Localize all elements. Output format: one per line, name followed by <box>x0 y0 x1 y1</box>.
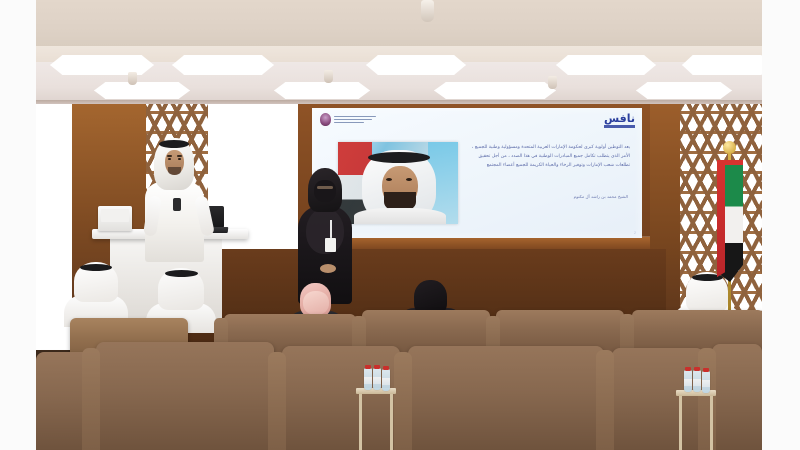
conference-photograph: نافس يعد التوطين أولوية كبرى لحكومة الإم… <box>36 0 762 450</box>
foreground-chair <box>712 344 762 450</box>
bottle-label <box>373 377 381 384</box>
ceiling-light-panel <box>50 55 154 75</box>
slide-attribution: الشيخ محمد بن راشد آل مكتوم <box>498 194 628 199</box>
side-table <box>356 388 396 450</box>
ceiling-light-panel <box>682 55 762 75</box>
ceiling-light-panel <box>94 82 190 99</box>
presenter-eyebrow <box>167 155 172 157</box>
chair-armrest <box>82 348 100 450</box>
ceiling-upper-surface <box>36 0 762 50</box>
uae-government-emblem-icon <box>320 113 376 126</box>
portrait-of-sheikh <box>338 142 458 224</box>
attendee-agal <box>165 270 198 277</box>
ceiling-downlight <box>324 70 333 83</box>
ceiling-light-panel <box>274 82 370 99</box>
chair-armrest <box>596 350 614 450</box>
portrait-agal <box>368 152 430 163</box>
monitor-screen <box>101 209 129 222</box>
smoke-detector-icon <box>421 0 434 22</box>
ceiling-light-panel <box>366 55 466 75</box>
ceiling-light-panel <box>556 55 656 75</box>
bottle-label <box>693 379 701 386</box>
attendee-agal <box>80 264 112 271</box>
portrait-eye <box>386 178 392 181</box>
water-bottle <box>702 371 710 393</box>
presenter-eyebrow <box>177 155 182 157</box>
bottle-label <box>702 380 710 387</box>
bottle-label <box>364 377 372 384</box>
screenshot-canvas: نافس يعد التوطين أولوية كبرى لحكومة الإم… <box>0 0 800 450</box>
bottle-label <box>684 379 692 386</box>
water-bottle <box>373 368 381 390</box>
presenter-handheld-device <box>173 198 181 211</box>
bottle-cap <box>383 366 389 370</box>
projection-screen[interactable]: نافس يعد التوطين أولوية كبرى لحكومة الإم… <box>312 108 642 238</box>
bottle-cap <box>374 365 380 369</box>
water-bottle <box>684 370 692 392</box>
chair-armrest <box>268 352 286 450</box>
table-leg <box>359 394 362 450</box>
emblem-crest <box>320 113 331 126</box>
portrait-eye <box>406 178 412 181</box>
side-table <box>676 390 716 450</box>
table-leg <box>679 396 682 450</box>
bottle-label <box>382 378 390 385</box>
foreground-chair <box>96 342 274 450</box>
ceiling-light-panel <box>460 82 556 99</box>
chair-armrest <box>394 352 412 450</box>
bottle-cap <box>703 368 709 372</box>
foreground-chair <box>408 346 604 450</box>
nafis-wordmark: نافس <box>604 113 635 124</box>
flag-red-band <box>717 160 725 282</box>
nafis-underline <box>604 125 635 128</box>
attendee-eyes <box>317 186 333 189</box>
table-leg <box>390 394 393 450</box>
portrait-robe <box>354 208 446 224</box>
bottle-cap <box>365 365 371 369</box>
bottle-cap <box>685 367 691 371</box>
emblem-text-lines <box>334 116 376 123</box>
ceiling-light-panel <box>636 82 732 99</box>
presenter-agal <box>159 140 189 148</box>
ceiling-light-panel <box>172 55 274 75</box>
slide-page-number: 2 <box>634 231 636 235</box>
attendee-hijab-wrap <box>303 291 329 315</box>
water-bottle <box>693 370 701 392</box>
nafis-logo-icon: نافس <box>604 113 635 128</box>
uae-flag <box>708 150 752 280</box>
presenter-beard <box>168 167 181 175</box>
confidence-monitor <box>98 206 132 231</box>
ceiling-downlight <box>548 76 557 89</box>
ceiling-downlight <box>128 72 137 85</box>
flag-finial <box>723 141 736 154</box>
attendee-niqab <box>314 180 336 202</box>
attendee-hands <box>320 264 336 273</box>
badge-lanyard <box>330 220 332 240</box>
table-leg <box>710 396 713 450</box>
bottle-cap <box>694 367 700 371</box>
water-bottle <box>382 369 390 391</box>
id-badge <box>325 238 336 252</box>
water-bottle <box>364 368 372 390</box>
slide-quote-text: يعد التوطين أولوية كبرى لحكومة الإمارات … <box>470 144 630 171</box>
